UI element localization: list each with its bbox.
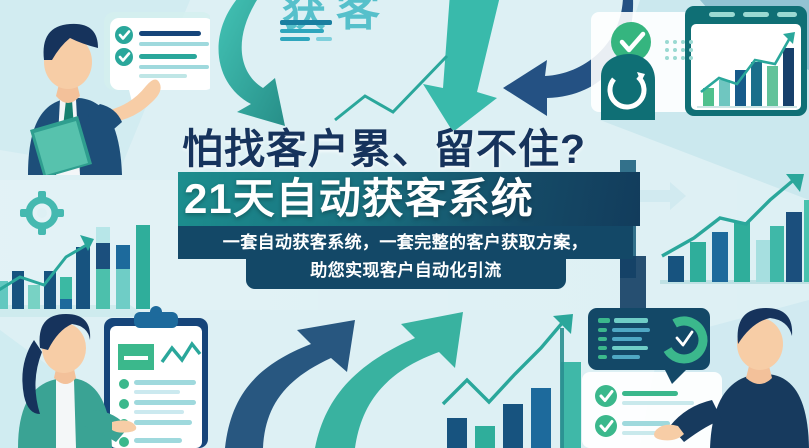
businesswoman-with-clipboard bbox=[0, 300, 240, 448]
headline-block: 怕找客户累、留不住? 21天自动获客系统 一套自动获客系统，一套完整的客户获取方… bbox=[178, 128, 648, 289]
subtitle-line-1: 一套自动获客系统，一套完整的客户获取方案， bbox=[184, 232, 627, 255]
page-headline: 怕找客户累、留不住? bbox=[178, 128, 648, 171]
arrow-down-curved-left bbox=[219, 0, 285, 126]
upward-arrows-and-chart bbox=[215, 300, 595, 448]
subtitle-band-2: 助您实现客户自动化引流 bbox=[246, 259, 566, 289]
arrow-down-straight-center bbox=[423, 0, 501, 130]
gear-icon bbox=[20, 191, 64, 235]
downward-arrows bbox=[215, 0, 635, 130]
businessman-back-view bbox=[560, 300, 809, 448]
subtitle-line-2: 助您实现客户自动化引流 bbox=[246, 260, 566, 283]
promo-poster: 获客 bbox=[0, 0, 809, 448]
left-bars bbox=[0, 225, 150, 309]
page-title: 21天自动获客系统 bbox=[178, 178, 534, 220]
subtitle-band-1: 一套自动获客系统，一套完整的客户获取方案， bbox=[178, 226, 633, 259]
title-band: 21天自动获客系统 bbox=[178, 172, 640, 226]
